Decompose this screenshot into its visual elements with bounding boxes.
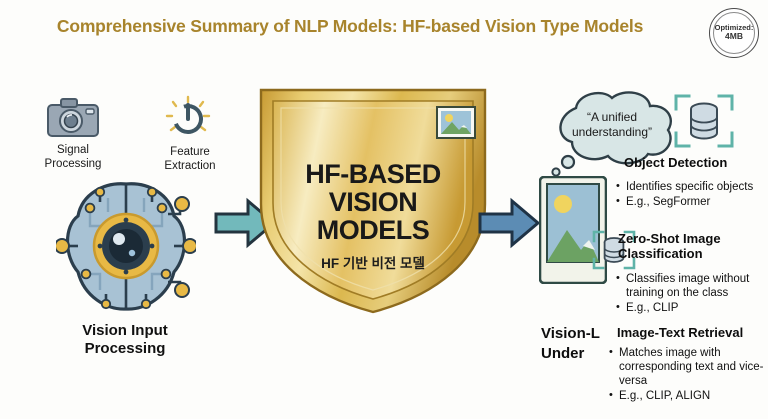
feature-extraction-line1: Feature	[145, 146, 235, 160]
infographic-canvas: Comprehensive Summary of NLP Models: HF-…	[0, 0, 768, 419]
thought-bubble-text: “A unified understanding”	[548, 110, 676, 139]
overlap-line2: Under	[541, 344, 600, 364]
status-badge: Optimized: 4MB	[709, 8, 759, 58]
bullet-list-image-text-retrieval: Matches image with corresponding text an…	[606, 346, 768, 404]
signal-processing-line2: Processing	[28, 158, 118, 172]
signal-processing-line1: Signal	[28, 144, 118, 158]
brain-circuit-eye-icon	[56, 178, 196, 321]
database-scan-icon	[673, 93, 735, 154]
overlapping-vision-language-label: Vision-L Under	[541, 324, 600, 363]
list-item: E.g., CLIP	[626, 301, 768, 315]
feature-extraction-label: Feature Extraction	[145, 146, 235, 173]
vision-input-line1: Vision Input	[40, 322, 210, 340]
thought-line2: understanding”	[548, 125, 676, 140]
image-placeholder-icon	[436, 106, 476, 144]
list-item: E.g., SegFormer	[626, 195, 768, 209]
list-item: Identifies specific objects	[626, 180, 768, 194]
power-icon	[163, 95, 213, 148]
section-heading-zero-shot-classification: Zero-Shot Image Classification	[618, 232, 768, 262]
overlap-line1: Vision-L	[541, 324, 600, 344]
vision-input-line2: Processing	[40, 340, 210, 358]
bullet-list-object-detection: Identifies specific objects E.g., SegFor…	[613, 180, 768, 210]
vision-input-processing-label: Vision Input Processing	[40, 322, 210, 358]
bullet-list-zero-shot-classification: Classifies image without training on the…	[613, 272, 768, 316]
page-title: Comprehensive Summary of NLP Models: HF-…	[0, 16, 700, 37]
list-item: Matches image with corresponding text an…	[619, 346, 768, 388]
signal-processing-label: Signal Processing	[28, 144, 118, 171]
badge-label-optimized: Optimized:	[715, 24, 754, 32]
arrow-model-to-output	[478, 196, 540, 255]
camera-icon	[46, 96, 100, 145]
section-heading-object-detection: Object Detection	[624, 156, 727, 171]
badge-value-size: 4MB	[725, 32, 743, 42]
feature-extraction-line2: Extraction	[145, 160, 235, 174]
list-item: E.g., CLIP, ALIGN	[619, 389, 768, 403]
thought-line1: “A unified	[548, 110, 676, 125]
list-item: Classifies image without training on the…	[626, 272, 768, 300]
section-heading-image-text-retrieval: Image-Text Retrieval	[617, 326, 743, 341]
